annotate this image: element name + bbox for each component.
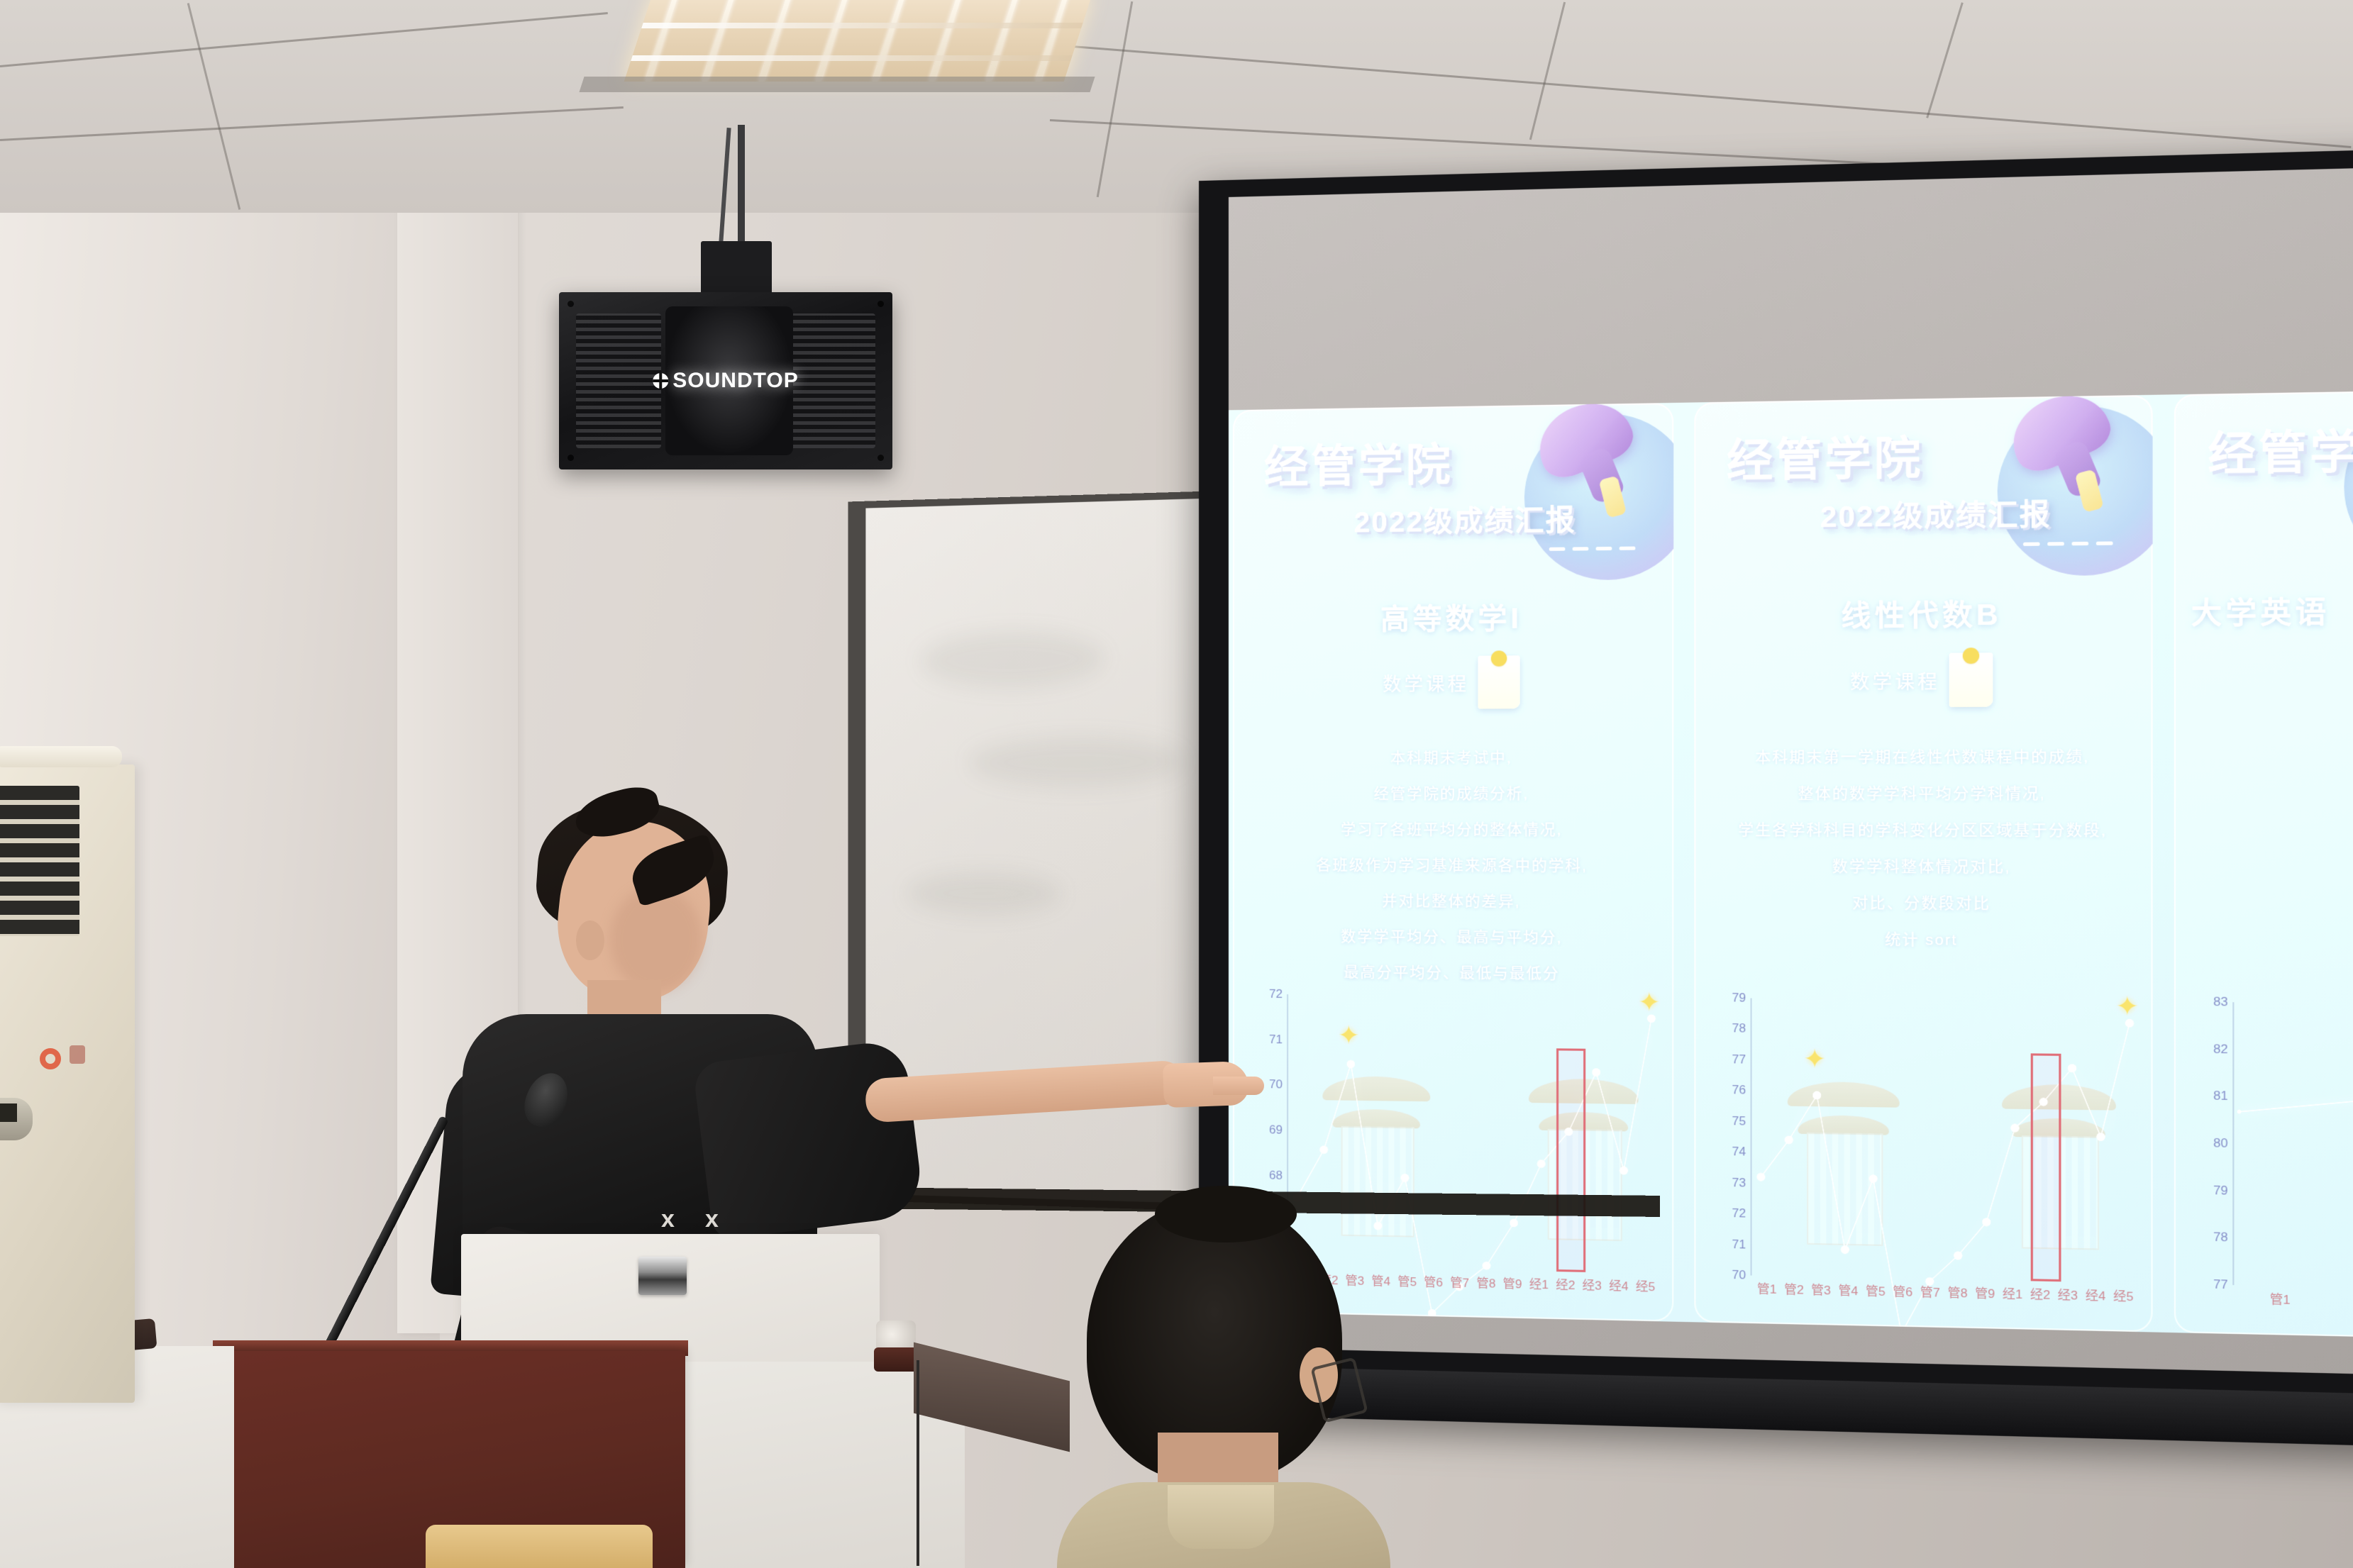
- chart-y-tick: 70: [1732, 1268, 1746, 1283]
- chart-x-tick: 经5: [2110, 1286, 2137, 1316]
- chart-x-tick: 管2: [1781, 1279, 1807, 1308]
- course-name: 线性代数B: [1710, 590, 2136, 635]
- card-body: 本科期末第一学期在线性代数课程中的成绩, 整体的数学学科平均分学科情况, 学生各…: [1710, 745, 2136, 951]
- chart-x-tick: 经2: [1552, 1274, 1578, 1303]
- chart-y-tick: 72: [1269, 987, 1283, 1001]
- chart-star-marker-icon: ✦: [1803, 1046, 1826, 1072]
- chart-y-tick: 78: [2213, 1230, 2228, 1245]
- audience-collar: [1168, 1485, 1274, 1549]
- card-title: 经管学院: [1264, 440, 1657, 490]
- chart-y-tick: 79: [1732, 991, 1746, 1006]
- air-conditioner-top: [0, 746, 122, 767]
- chart-x-tick: 管5: [1862, 1281, 1889, 1311]
- chart-highlight-box: [1556, 1048, 1585, 1272]
- body-line: 本科期末第一学期在线性代数课程中的成绩,: [1710, 745, 2136, 767]
- chart-x-tick: 经3: [2054, 1284, 2081, 1314]
- slide-card-2: 经管学院 2022级成绩汇报 线性代数B 数学课程 本科期末第一学期在线性代数课…: [1694, 395, 2152, 1333]
- body-line: 统计 sort: [1710, 927, 2136, 951]
- chart-y-tick: 69: [1269, 1123, 1283, 1137]
- chart-y-tick: 70: [1269, 1078, 1283, 1092]
- air-conditioner-vent-grille: [0, 786, 79, 936]
- chart-x-tick: 管7: [1917, 1281, 1944, 1311]
- speaker-grill-left: [576, 313, 661, 448]
- course-name: 高等数学I: [1249, 594, 1658, 638]
- chart-y-tick: 75: [1732, 1114, 1746, 1129]
- chart-x-axis: 管1管2: [2236, 1288, 2353, 1321]
- chart-x-tick: 管1: [1754, 1279, 1781, 1308]
- chart-y-axis: 83828180797877: [2191, 1002, 2233, 1285]
- chart-y-tick: 73: [1732, 1176, 1746, 1191]
- chart-y-tick: 83: [2213, 995, 2228, 1010]
- chart-y-tick: 77: [2213, 1277, 2228, 1292]
- presenter-ear: [576, 921, 604, 960]
- chart-x-tick: 经2: [2027, 1284, 2054, 1313]
- chart-y-tick: 78: [1732, 1021, 1746, 1036]
- chart-y-tick: 74: [1732, 1145, 1746, 1160]
- chart-x-tick: 管9: [1499, 1273, 1525, 1302]
- chart-y-tick: 82: [2213, 1042, 2228, 1057]
- body-line: 整体的数学学科平均分学科情况,: [1710, 782, 2136, 804]
- chart-x-tick: 管4: [1834, 1280, 1861, 1310]
- chart-y-tick: 79: [2213, 1183, 2228, 1198]
- body-line: 学习了各班平均分的整体情况,: [1249, 818, 1658, 840]
- chart-y-tick: 76: [1732, 1083, 1746, 1098]
- wooden-chair: [426, 1525, 653, 1568]
- card-subtitle: 2022级成绩汇报: [1354, 496, 1658, 541]
- chart-x-tick: 经4: [2082, 1285, 2110, 1315]
- course-subtitle: 数学课程: [1850, 667, 1940, 694]
- chart-x-tick: 经5: [1632, 1276, 1659, 1306]
- card-body: 本科期末考试中, 经管学院的成绩分析, 学习了各班平均分的整体情况, 各班级作为…: [1249, 746, 1658, 984]
- chart-plot-area: [2236, 1005, 2353, 1289]
- chart-x-tick: 管7: [1446, 1272, 1473, 1301]
- air-conditioner-sticker-icon: [40, 1048, 61, 1069]
- body-line: 本科期末考试中,: [1249, 746, 1658, 768]
- lecture-hall-photo: SOUNDTOP 经管学院 2022级成绩汇报 高: [0, 0, 2353, 1568]
- body-line: 数学学平均分、最高与平均分,: [1249, 924, 1658, 948]
- speaker-brand-logo: SOUNDTOP: [653, 369, 798, 393]
- speaker-bracket: [701, 241, 772, 296]
- speaker-brand-text: SOUNDTOP: [672, 369, 798, 393]
- chart-x-tick: 管2: [2325, 1290, 2353, 1322]
- course-name: 大学英语: [2191, 587, 2353, 632]
- card-subtitle: 2022级成绩汇报: [1820, 489, 2136, 535]
- body-line: 经管学院的成绩分析,: [1249, 782, 1658, 804]
- chart-y-tick: 71: [1269, 1033, 1283, 1047]
- body-line: 各班级作为学习基准来源各中的学科,: [1249, 853, 1658, 876]
- body-line: 并对比整体的差异,: [1249, 889, 1658, 912]
- body-line: 最高分平均分、最低与最低分: [1249, 960, 1658, 984]
- slide-card-1: 经管学院 2022级成绩汇报 高等数学I 数学课程 本科期末考试中, 经管学院的…: [1233, 403, 1673, 1322]
- chart-x-tick: 经1: [1526, 1274, 1552, 1303]
- chart-x-tick: 管6: [1889, 1281, 1917, 1311]
- ceiling-light-shadow-edge: [579, 77, 1095, 92]
- chart-y-tick: 77: [1732, 1052, 1746, 1067]
- chart-highlight-box: [2030, 1053, 2061, 1281]
- chart-x-tick: 经3: [1579, 1275, 1606, 1304]
- body-line: 学生各学科科目的学科变化分区区域基于分数段,: [1710, 818, 2136, 841]
- chart-star-marker-icon: ✦: [2116, 993, 2139, 1020]
- soundtop-mark-icon: [653, 373, 668, 389]
- chart-y-tick: 80: [2213, 1136, 2228, 1151]
- chart-star-marker-icon: ✦: [1638, 989, 1660, 1016]
- body-line: 数学学科整体情况对比,: [1710, 855, 2136, 878]
- speaker-grill-right: [790, 313, 875, 448]
- chart-x-tick: 经4: [1605, 1275, 1632, 1304]
- note-icon: [1478, 655, 1519, 708]
- chart-star-marker-icon: ✦: [1338, 1023, 1359, 1049]
- speaker-mount-pipe: [738, 125, 745, 252]
- chart-line-svg: [2236, 1005, 2353, 1178]
- chart-y-axis: 79787776757473727170: [1710, 998, 1750, 1275]
- desk-cable: [917, 1360, 919, 1566]
- slide-card-3: 经管学院 大学英语 83828180797877 管1管2: [2174, 390, 2353, 1338]
- line-chart: 79787776757473727170 ✦✦ 管1管2管3管4管5管6管7管8…: [1710, 998, 2140, 1318]
- air-conditioner-label: [70, 1045, 85, 1064]
- note-icon: [1949, 652, 1993, 707]
- chart-y-tick: 72: [1732, 1206, 1746, 1221]
- line-chart: 83828180797877 管1管2: [2191, 1002, 2353, 1325]
- decor-circle-icon: [2344, 399, 2353, 573]
- chart-x-tick: 管3: [1807, 1279, 1834, 1309]
- wall-speaker: SOUNDTOP: [559, 292, 892, 469]
- chart-x-tick: 管1: [2236, 1288, 2325, 1319]
- chart-plot-area: ✦✦: [1754, 1001, 2137, 1284]
- audience-member: [1036, 1199, 1433, 1568]
- chart-x-tick: 管9: [1971, 1283, 1999, 1313]
- card-title: 经管学院: [1727, 433, 2136, 484]
- presenter-pointing-finger: [1213, 1077, 1264, 1095]
- course-subtitle: 数学课程: [1383, 669, 1469, 696]
- ceiling-light-fixture: [624, 0, 1093, 82]
- chart-y-tick: 68: [1269, 1168, 1283, 1182]
- body-line: 对比、分数段对比: [1710, 891, 2136, 915]
- chart-y-tick: 71: [1732, 1237, 1746, 1252]
- chart-y-tick: 81: [2213, 1089, 2228, 1103]
- card-title: 经管学院: [2208, 429, 2353, 478]
- desk-object-base: [874, 1347, 918, 1372]
- desk-latch: [638, 1257, 687, 1295]
- chart-x-tick: 管8: [1944, 1282, 1971, 1312]
- chart-x-tick: 管8: [1473, 1273, 1499, 1302]
- chart-x-tick: 经1: [1999, 1284, 2027, 1313]
